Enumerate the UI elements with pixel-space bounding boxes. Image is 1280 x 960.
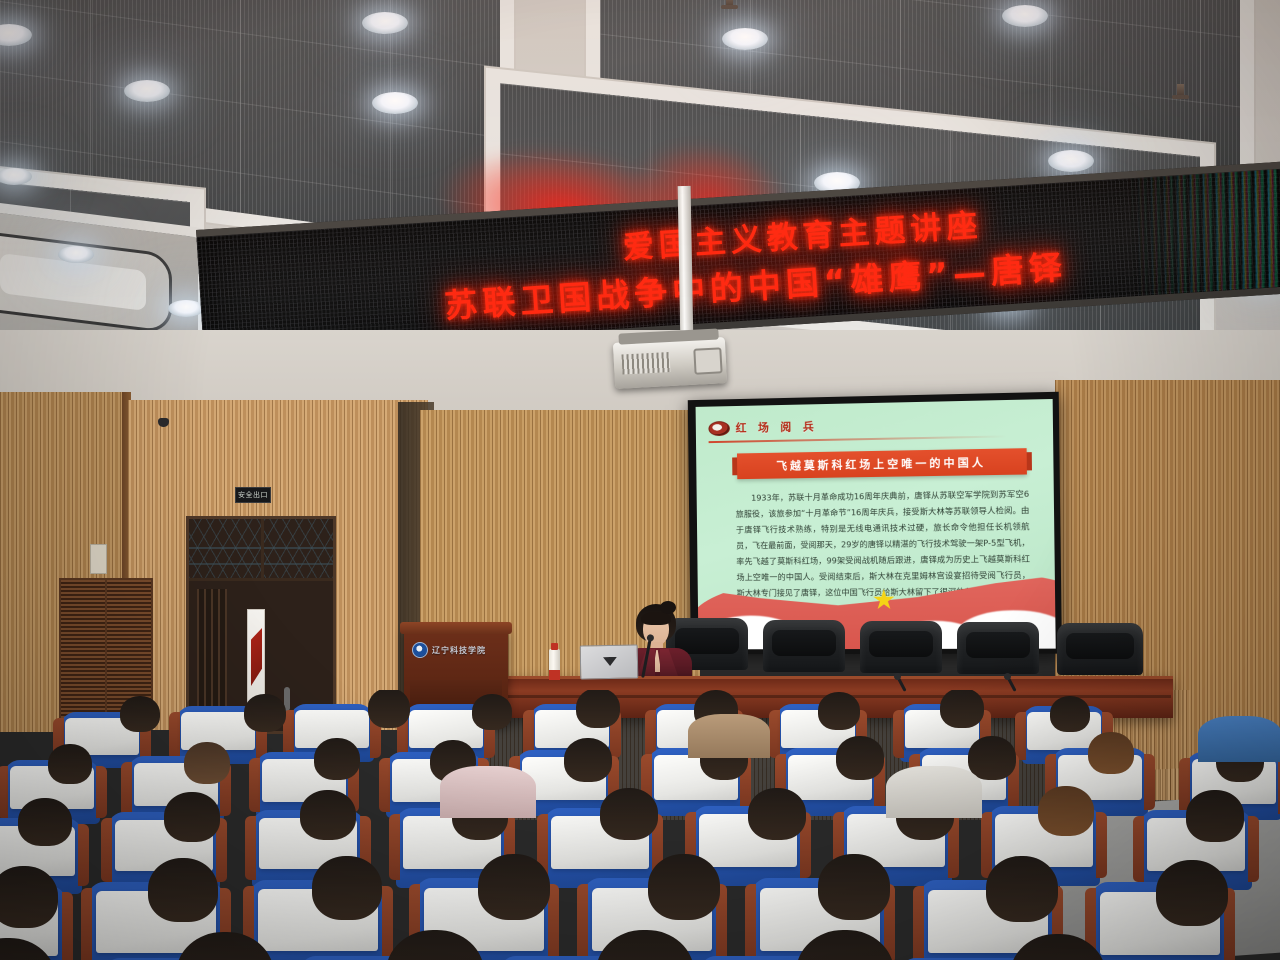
- audience-head: [312, 856, 382, 920]
- audience-head: [472, 694, 512, 730]
- recessed-downlight: [1002, 5, 1048, 27]
- projector-mount-pole: [678, 186, 694, 344]
- sprinkler-head: [726, 0, 733, 7]
- audience-head: [1038, 786, 1094, 836]
- audience-head: [244, 694, 286, 732]
- executive-chair: [860, 621, 942, 673]
- recessed-downlight: [722, 28, 768, 50]
- audience-head: [368, 690, 410, 728]
- presentation-slide: 红 场 阅 兵 飞越莫斯科红场上空唯一的中国人 1933年，苏联十月革命成功16…: [696, 399, 1056, 649]
- slide-header-label: 红 场 阅 兵: [736, 418, 818, 436]
- audience-head: [1156, 860, 1228, 926]
- audience-head: [968, 736, 1016, 780]
- recessed-downlight: [168, 300, 204, 317]
- security-camera-icon: [158, 418, 169, 427]
- lectern-nameplate: 辽宁科技学院: [412, 642, 486, 658]
- audience-head: [1088, 732, 1134, 774]
- led-glitch-artifact: [1125, 169, 1280, 297]
- audience-head: [1050, 696, 1090, 732]
- slide-body-text: 1933年，苏联十月革命成功16周年庆典前，唐铎从苏联空军学院到苏军空6旅服役，…: [735, 487, 1030, 602]
- audience-head: [48, 744, 92, 784]
- audience-head: [184, 742, 230, 784]
- audience-head: [478, 854, 550, 920]
- exit-sign: 安全出口: [235, 487, 271, 503]
- lectern-top: [400, 622, 512, 634]
- lecture-hall-photo: 爱国主义教育主题讲座 苏联卫国战争中的中国“雄鹰”—唐铎 安全出口 红 场 阅 …: [0, 0, 1280, 960]
- audience-area: [0, 690, 1280, 960]
- projection-screen: 红 场 阅 兵 飞越莫斯科红场上空唯一的中国人 1933年，苏联十月革命成功16…: [688, 392, 1062, 655]
- executive-chair: [957, 622, 1039, 674]
- audience-shoulders: [440, 766, 536, 818]
- slide-header-rule: [709, 435, 1007, 443]
- water-bottle: [549, 649, 560, 680]
- executive-chair: [1057, 623, 1143, 675]
- audience-head: [564, 738, 612, 782]
- lectern-label: 辽宁科技学院: [432, 645, 486, 656]
- audience-head: [818, 692, 860, 730]
- audience-head: [576, 690, 620, 728]
- sprinkler-head: [1177, 84, 1184, 97]
- recessed-downlight: [1048, 150, 1094, 172]
- recessed-downlight: [58, 246, 94, 263]
- red-square-parade-emblem-icon: [708, 420, 730, 435]
- laptop[interactable]: [580, 644, 639, 679]
- audience-shoulders: [1198, 716, 1280, 762]
- projector-vent: [621, 352, 670, 374]
- audience-head: [940, 690, 984, 728]
- light-switch[interactable]: [90, 544, 107, 574]
- door-transom-glass: [189, 519, 333, 581]
- recessed-downlight: [124, 80, 170, 102]
- audience-head: [314, 738, 360, 780]
- audience-head: [300, 790, 356, 840]
- slide-header: 红 场 阅 兵: [708, 418, 817, 436]
- audience-shoulders: [688, 714, 770, 758]
- recessed-downlight: [362, 12, 408, 34]
- audience-head: [748, 788, 806, 840]
- audience-head: [986, 856, 1058, 922]
- audience-head: [18, 798, 72, 846]
- recessed-downlight: [372, 92, 418, 114]
- audience-head: [648, 854, 720, 920]
- audience-head: [836, 736, 884, 780]
- presenter-fringe: [641, 612, 671, 625]
- audience-head: [818, 854, 890, 920]
- audience-shoulders: [886, 766, 982, 818]
- audience-head: [0, 866, 58, 928]
- slide-title: 飞越莫斯科红场上空唯一的中国人: [776, 454, 986, 474]
- slide-title-banner: 飞越莫斯科红场上空唯一的中国人: [737, 448, 1027, 479]
- exit-sign-label: 安全出口: [238, 492, 268, 499]
- audience-head: [600, 788, 658, 840]
- university-emblem-icon: [412, 642, 428, 658]
- audience-head: [148, 858, 218, 922]
- ceiling-projector: [613, 337, 727, 389]
- executive-chair: [763, 620, 845, 672]
- audience-head: [120, 696, 160, 732]
- audience-head: [1186, 790, 1244, 842]
- audience-head: [164, 792, 220, 842]
